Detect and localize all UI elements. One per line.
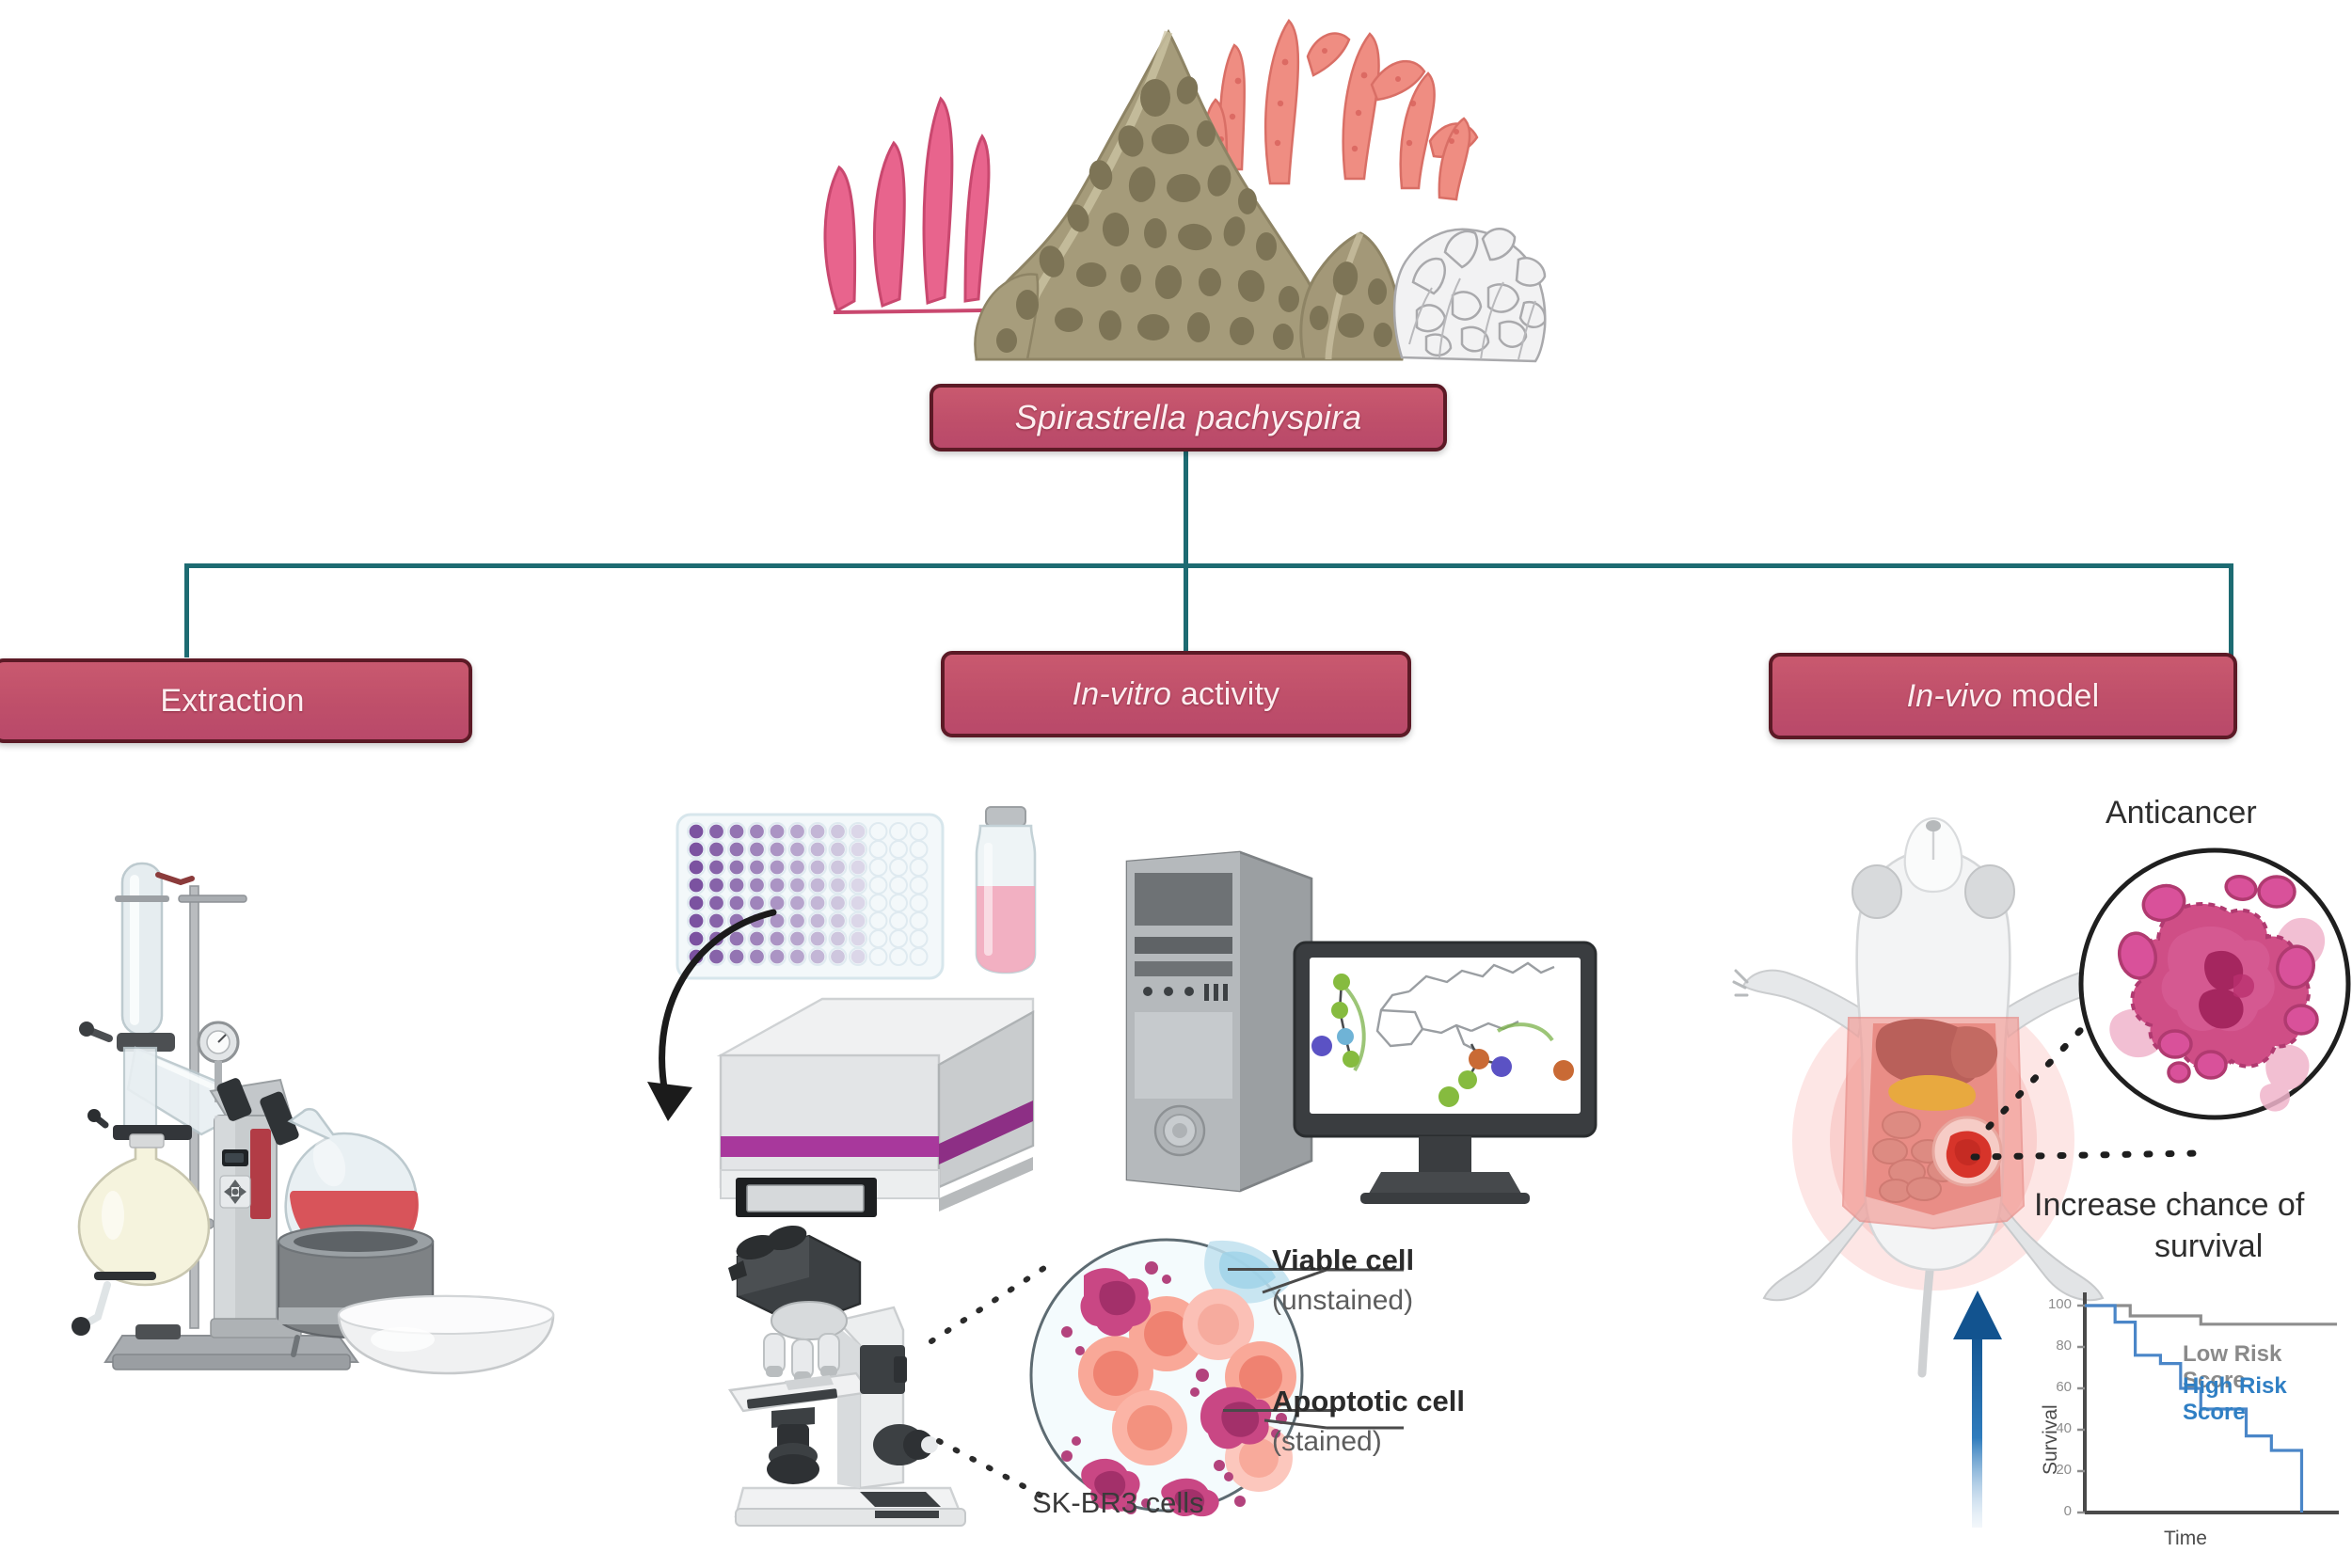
survival-caption-line2: survival: [2154, 1228, 2263, 1265]
chart-ytick-60: 60: [2030, 1379, 2072, 1395]
connector-horizontal-bus: [184, 563, 2233, 568]
chart-ytick-20: 20: [2030, 1462, 2072, 1478]
chart-x-axis-title: Time: [2164, 1528, 2207, 1550]
cell-line-caption: SK-BR3 cells: [1032, 1486, 1204, 1520]
connector-drop-extraction: [184, 563, 189, 657]
survival-up-arrow-icon: [1949, 1289, 2006, 1533]
chart-ytick-40: 40: [2030, 1420, 2072, 1436]
branch-label-in-vitro-rest: activity: [1171, 676, 1279, 712]
branch-label-extraction: Extraction: [160, 683, 304, 720]
apoptotic-cell-label: Apoptotic cell: [1272, 1385, 1465, 1418]
reagent-vial-illustration: [963, 805, 1048, 976]
branch-label-in-vitro-italic: In-vitro: [1073, 676, 1172, 712]
organism-title-text: Spirastrella pachyspira: [1015, 398, 1362, 437]
connector-drop-invitro: [1184, 563, 1188, 657]
chart-ytick-80: 80: [2030, 1338, 2072, 1354]
organism-title-box[interactable]: Spirastrella pachyspira: [930, 384, 1447, 451]
branch-box-in-vivo[interactable]: In-vivo model: [1769, 653, 2237, 739]
branch-label-in-vivo-italic: In-vivo: [1907, 678, 2003, 714]
rotary-evaporator-illustration: [56, 847, 564, 1373]
connector-drop-invivo: [2229, 563, 2233, 657]
apoptotic-cell-sublabel: (stained): [1272, 1426, 1382, 1458]
anticancer-label: Anticancer: [2106, 795, 2257, 832]
branch-label-in-vivo-rest: model: [2002, 678, 2099, 714]
sponge-coral-illustration: [781, 0, 1571, 376]
viable-cell-sublabel: (unstained): [1272, 1285, 1413, 1317]
plate-reader-illustration: [683, 986, 1041, 1221]
connector-trunk-vertical: [1184, 451, 1188, 566]
chart-ytick-100: 100: [2030, 1296, 2072, 1312]
survival-chart: Survival Time 0 20 40 60 80 100: [2023, 1287, 2343, 1550]
branch-box-extraction[interactable]: Extraction: [0, 658, 472, 743]
figure-canvas: Spirastrella pachyspira Extraction In-vi…: [0, 0, 2352, 1568]
survival-caption-line1: Increase chance of: [2034, 1187, 2304, 1224]
chart-ytick-0: 0: [2030, 1503, 2072, 1519]
branch-box-in-vitro[interactable]: In-vitro activity: [941, 651, 1411, 737]
viable-cell-label: Viable cell: [1272, 1243, 1414, 1277]
anticancer-tumor-circle: [2074, 843, 2352, 1125]
chart-legend-high-risk: High Risk Score: [2183, 1373, 2343, 1426]
computer-workstation-illustration: [1099, 845, 1607, 1221]
